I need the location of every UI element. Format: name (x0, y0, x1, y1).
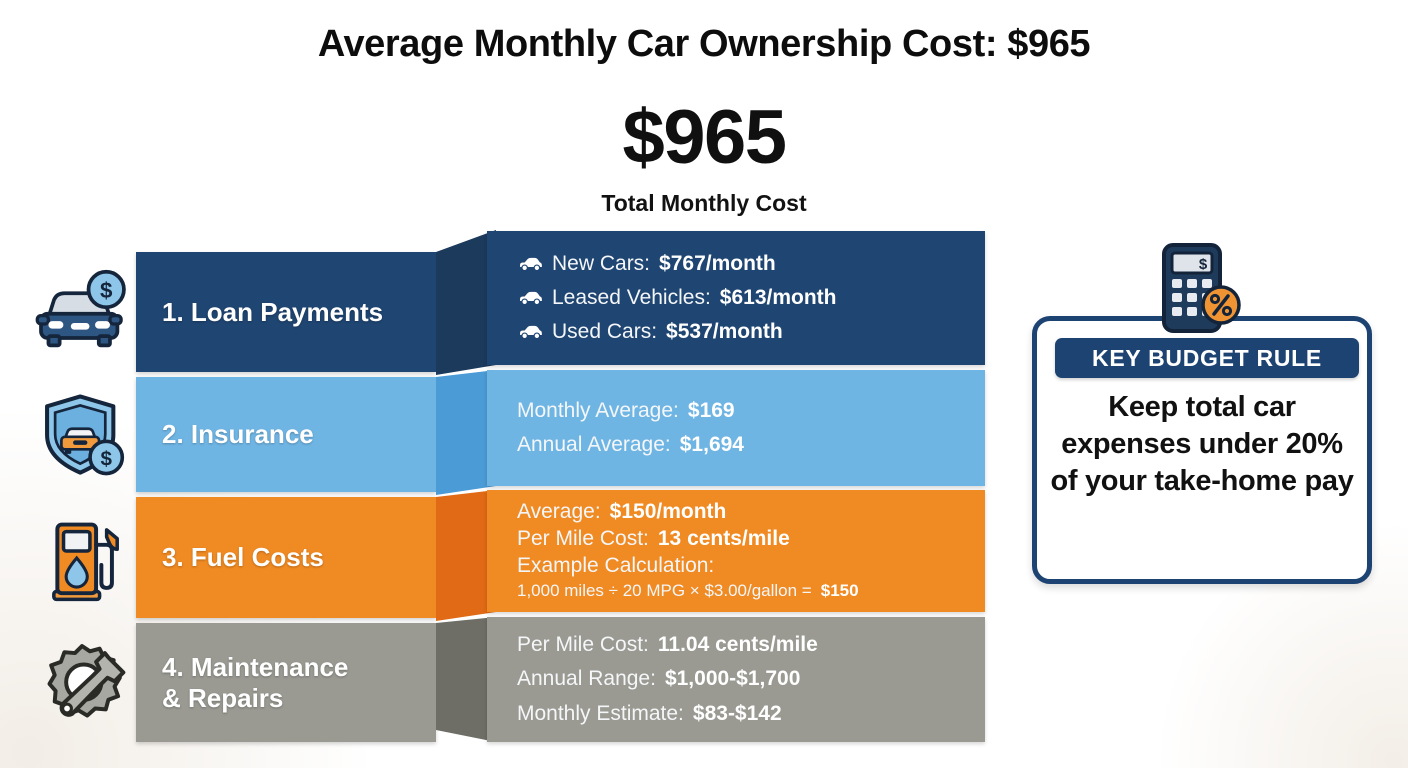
svg-text:$: $ (100, 278, 113, 303)
row-detail-panel-maintenance-repairs: Per Mile Cost: 11.04 cents/mile Annual R… (487, 617, 985, 742)
detail-value: $83-$142 (693, 697, 782, 731)
row-detail-panel-fuel-costs: Average: $150/month Per Mile Cost: 13 ce… (487, 490, 985, 612)
row-details-maintenance-repairs: Per Mile Cost: 11.04 cents/mile Annual R… (487, 617, 985, 742)
detail-value: $150 (821, 580, 859, 603)
key-budget-rule-body: Keep total car expenses under 20% of you… (1047, 389, 1357, 500)
detail-text: Leased Vehicles: (552, 281, 711, 315)
detail-text: Monthly Average: (517, 394, 679, 428)
shield-car-dollar-icon: $ (34, 382, 130, 488)
detail-line-example: 1,000 miles ÷ 20 MPG × $3.00/gallon = $1… (517, 580, 967, 603)
car-mini-icon (517, 290, 543, 306)
gear-wrench-icon (34, 630, 130, 736)
detail-line: Annual Range: $1,000-$1,700 (517, 662, 967, 696)
detail-line: Average: $150/month (517, 499, 967, 526)
detail-line: Per Mile Cost: 11.04 cents/mile (517, 628, 967, 662)
row-label-panel-loan-payments: 1. Loan Payments (136, 252, 436, 372)
row-details-insurance: Monthly Average: $169 Annual Average: $1… (487, 370, 985, 486)
detail-text: Monthly Estimate: (517, 697, 684, 731)
detail-text: Per Mile Cost: (517, 526, 649, 553)
row-label-panel-fuel-costs: 3. Fuel Costs (136, 497, 436, 618)
detail-value: 11.04 cents/mile (658, 628, 818, 662)
svg-text:$: $ (1199, 256, 1208, 273)
detail-line: New Cars: $767/month (517, 247, 967, 281)
svg-text:$: $ (100, 447, 112, 470)
car-mini-icon (517, 324, 543, 340)
detail-text: New Cars: (552, 247, 650, 281)
detail-text: Annual Average: (517, 428, 671, 462)
detail-value: $150/month (610, 499, 727, 526)
detail-line: Monthly Average: $169 (517, 394, 967, 428)
detail-text: Used Cars: (552, 315, 657, 349)
row-label-panel-maintenance-repairs: 4. Maintenance & Repairs (136, 623, 436, 742)
detail-text: 1,000 miles ÷ 20 MPG × $3.00/gallon = (517, 580, 812, 603)
row-details-loan-payments: New Cars: $767/month Leased Vehicles: $6… (487, 231, 985, 365)
detail-text: Example Calculation: (517, 553, 714, 580)
calculator-percent-icon: $ (1140, 243, 1248, 335)
detail-line: Per Mile Cost: 13 cents/mile (517, 526, 967, 553)
row-details-fuel-costs: Average: $150/month Per Mile Cost: 13 ce… (487, 490, 985, 612)
detail-line: Monthly Estimate: $83-$142 (517, 697, 967, 731)
row-label-loan-payments: 1. Loan Payments (136, 297, 383, 328)
key-budget-rule-card: KEY BUDGET RULE Keep total car expenses … (1032, 316, 1372, 584)
detail-value: 13 cents/mile (658, 526, 790, 553)
row-label-insurance: 2. Insurance (136, 419, 314, 450)
detail-line: Used Cars: $537/month (517, 315, 967, 349)
detail-text: Average: (517, 499, 601, 526)
detail-value: $613/month (720, 281, 837, 315)
detail-value: $169 (688, 394, 735, 428)
fuel-pump-icon (34, 503, 130, 613)
detail-text: Per Mile Cost: (517, 628, 649, 662)
row-detail-panel-loan-payments: New Cars: $767/month Leased Vehicles: $6… (487, 231, 985, 365)
detail-value: $1,000-$1,700 (665, 662, 800, 696)
detail-line: Example Calculation: (517, 553, 967, 580)
car-dollar-icon: $ (34, 256, 130, 364)
detail-value: $537/month (666, 315, 783, 349)
cost-breakdown-ribbon: $ 1. Loan Payments New Cars: $767/month … (0, 0, 1010, 768)
key-budget-rule-header: KEY BUDGET RULE (1055, 338, 1359, 378)
row-label-fuel-costs: 3. Fuel Costs (136, 542, 324, 573)
infographic-stage: Average Monthly Car Ownership Cost: $965… (0, 0, 1408, 768)
detail-value: $767/month (659, 247, 776, 281)
row-detail-panel-insurance: Monthly Average: $169 Annual Average: $1… (487, 370, 985, 486)
row-label-maintenance-repairs: 4. Maintenance & Repairs (136, 652, 348, 713)
detail-value: $1,694 (680, 428, 744, 462)
detail-line: Leased Vehicles: $613/month (517, 281, 967, 315)
detail-line: Annual Average: $1,694 (517, 428, 967, 462)
detail-text: Annual Range: (517, 662, 656, 696)
car-mini-icon (517, 256, 543, 272)
row-label-panel-insurance: 2. Insurance (136, 377, 436, 492)
